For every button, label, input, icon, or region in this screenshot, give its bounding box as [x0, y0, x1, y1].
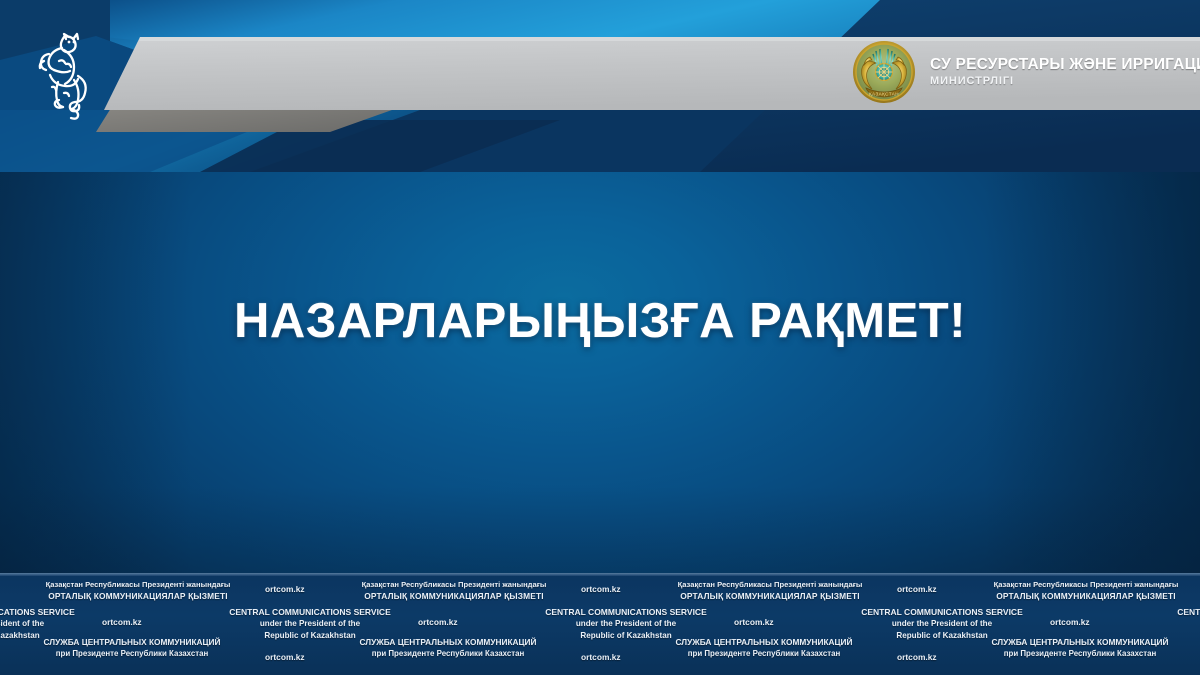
ministry-lockup: ҚАЗАҚСТАН СУ РЕСУРСТАРЫ ЖӘНЕ ИРРИГАЦИЯ М…	[852, 40, 1200, 104]
presentation-slide: ҚАЗАҚСТАН СУ РЕСУРСТАРЫ ЖӘНЕ ИРРИГАЦИЯ М…	[0, 0, 1200, 675]
footer-url: ortcom.kz	[1050, 617, 1090, 627]
footer-watermark-track: Қазақстан Республикасы Президенті жанынд…	[0, 573, 1200, 675]
footer-url: ortcom.kz	[265, 652, 305, 662]
ministry-subtitle: МИНИСТРЛІГІ	[930, 76, 1200, 88]
footer-russian-text: СЛУЖБА ЦЕНТРАЛЬНЫХ КОММУНИКАЦИЙ при През…	[6, 636, 258, 659]
footer-url: ortcom.kz	[581, 652, 621, 662]
footer-watermark-band: Қазақстан Республикасы Президенті жанынд…	[0, 573, 1200, 675]
slide-headline: НАЗАРЛАРЫҢЫЗҒА РАҚМЕТ!	[0, 293, 1200, 349]
footer-kazakh-text: Қазақстан Республикасы Президенті жанынд…	[334, 580, 574, 603]
kazakhstan-state-emblem-icon: ҚАЗАҚСТАН	[852, 40, 916, 104]
snow-leopard-emblem-icon	[28, 30, 90, 122]
footer-url: ortcom.kz	[734, 617, 774, 627]
footer-russian-text: СЛУЖБА ЦЕНТРАЛЬНЫХ КОММУНИКАЦИЙ при През…	[954, 636, 1200, 659]
footer-url: ortcom.kz	[102, 617, 142, 627]
footer-url: ortcom.kz	[897, 584, 937, 594]
footer-watermark-tile: Қазақстан Республикасы Президенті жанынд…	[0, 573, 316, 675]
footer-url: ortcom.kz	[581, 584, 621, 594]
footer-watermark-tile: Қазақстан Республикасы Президенті жанынд…	[632, 573, 948, 675]
footer-url: ortcom.kz	[418, 617, 458, 627]
footer-kazakh-text: Қазақстан Республикасы Президенті жанынд…	[18, 580, 258, 603]
footer-russian-text: СЛУЖБА ЦЕНТРАЛЬНЫХ КОММУНИКАЦИЙ при През…	[638, 636, 890, 659]
footer-kazakh-text: Қазақстан Республикасы Президенті жанынд…	[966, 580, 1200, 603]
footer-watermark-tile: Қазақстан Республикасы Президенті жанынд…	[316, 573, 632, 675]
ministry-title: СУ РЕСУРСТАРЫ ЖӘНЕ ИРРИГАЦИЯ	[930, 57, 1200, 73]
footer-url: ortcom.kz	[897, 652, 937, 662]
footer-russian-text: СЛУЖБА ЦЕНТРАЛЬНЫХ КОММУНИКАЦИЙ при През…	[322, 636, 574, 659]
footer-watermark-tile: Қазақстан Республикасы Президенті жанынд…	[948, 573, 1200, 675]
footer-kazakh-text: Қазақстан Республикасы Президенті жанынд…	[650, 580, 890, 603]
footer-url: ortcom.kz	[265, 584, 305, 594]
svg-text:ҚАЗАҚСТАН: ҚАЗАҚСТАН	[869, 91, 899, 96]
